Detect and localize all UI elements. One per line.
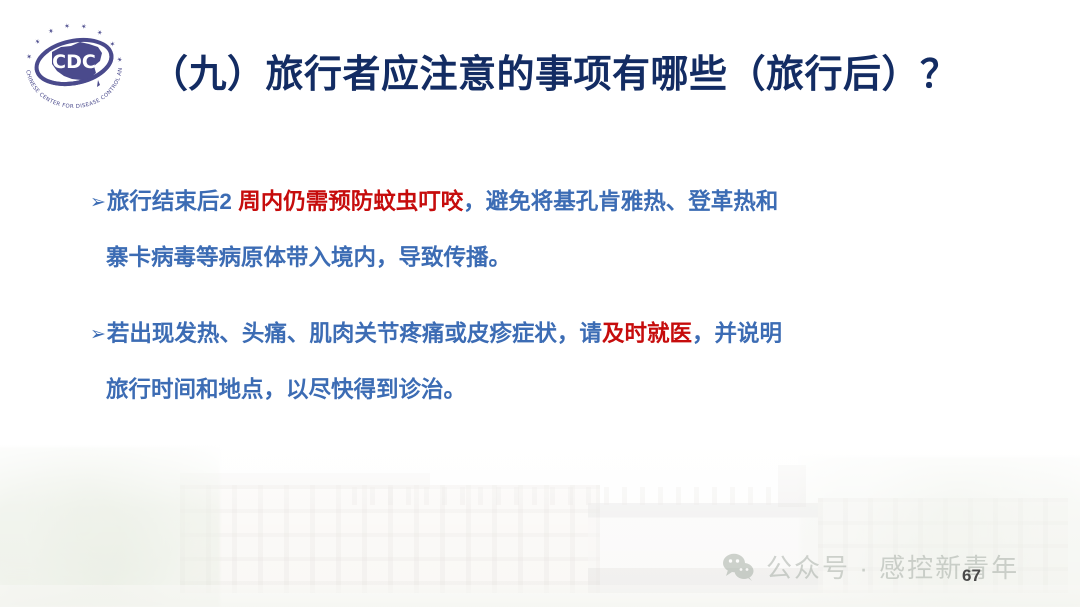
bullet-paragraph-2: ➢若出现发热、头痛、肌肉关节疼痛或皮疹症状，请及时就医，并说明 旅行时间和地点，… — [90, 307, 1020, 417]
slide-body: ➢旅行结束后2 周内仍需预防蚊虫叮咬，避免将基孔肯雅热、登革热和 寨卡病毒等病原… — [90, 175, 1020, 417]
bullet-1-run-1: 旅行结束后2 — [107, 189, 238, 214]
bullet-1-line2: 寨卡病毒等病原体带入境内，导致传播。 — [106, 245, 511, 270]
bullet-1-run-3: ，避免将基孔肯雅热、登革热和 — [463, 189, 778, 214]
bullet-2-line2: 旅行时间和地点，以尽快得到诊治。 — [106, 377, 466, 402]
bullet-1-run-2-highlight: 周内仍需预防蚊虫叮咬 — [238, 189, 463, 214]
china-cdc-logo: ✶ ✶ ✶ ✶ ✶ ✶ ✶ ✶ ✶ ✶ ✶ CHINESE CENTER FOR… — [14, 6, 134, 118]
bullet-paragraph-1: ➢旅行结束后2 周内仍需预防蚊虫叮咬，避免将基孔肯雅热、登革热和 寨卡病毒等病原… — [90, 175, 1020, 285]
bullet-marker-icon: ➢ — [90, 176, 106, 230]
slide-title: （九）旅行者应注意的事项有哪些（旅行后）？ — [150, 55, 1065, 97]
page-number: 67 — [962, 566, 981, 586]
watermark-text: 公众号 · 感控新青年 — [766, 548, 1019, 585]
bullet-2-run-1: 若出现发热、头痛、肌肉关节疼痛或皮疹症状，请 — [107, 321, 602, 346]
bullet-2-run-2-highlight: 及时就医 — [602, 321, 692, 346]
svg-text:CDC: CDC — [52, 51, 96, 73]
wechat-icon — [722, 552, 756, 582]
bullet-marker-icon: ➢ — [90, 308, 106, 362]
bullet-2-run-3: ，并说明 — [692, 321, 782, 346]
slide-canvas: ✶ ✶ ✶ ✶ ✶ ✶ ✶ ✶ ✶ ✶ ✶ CHINESE CENTER FOR… — [0, 0, 1080, 607]
